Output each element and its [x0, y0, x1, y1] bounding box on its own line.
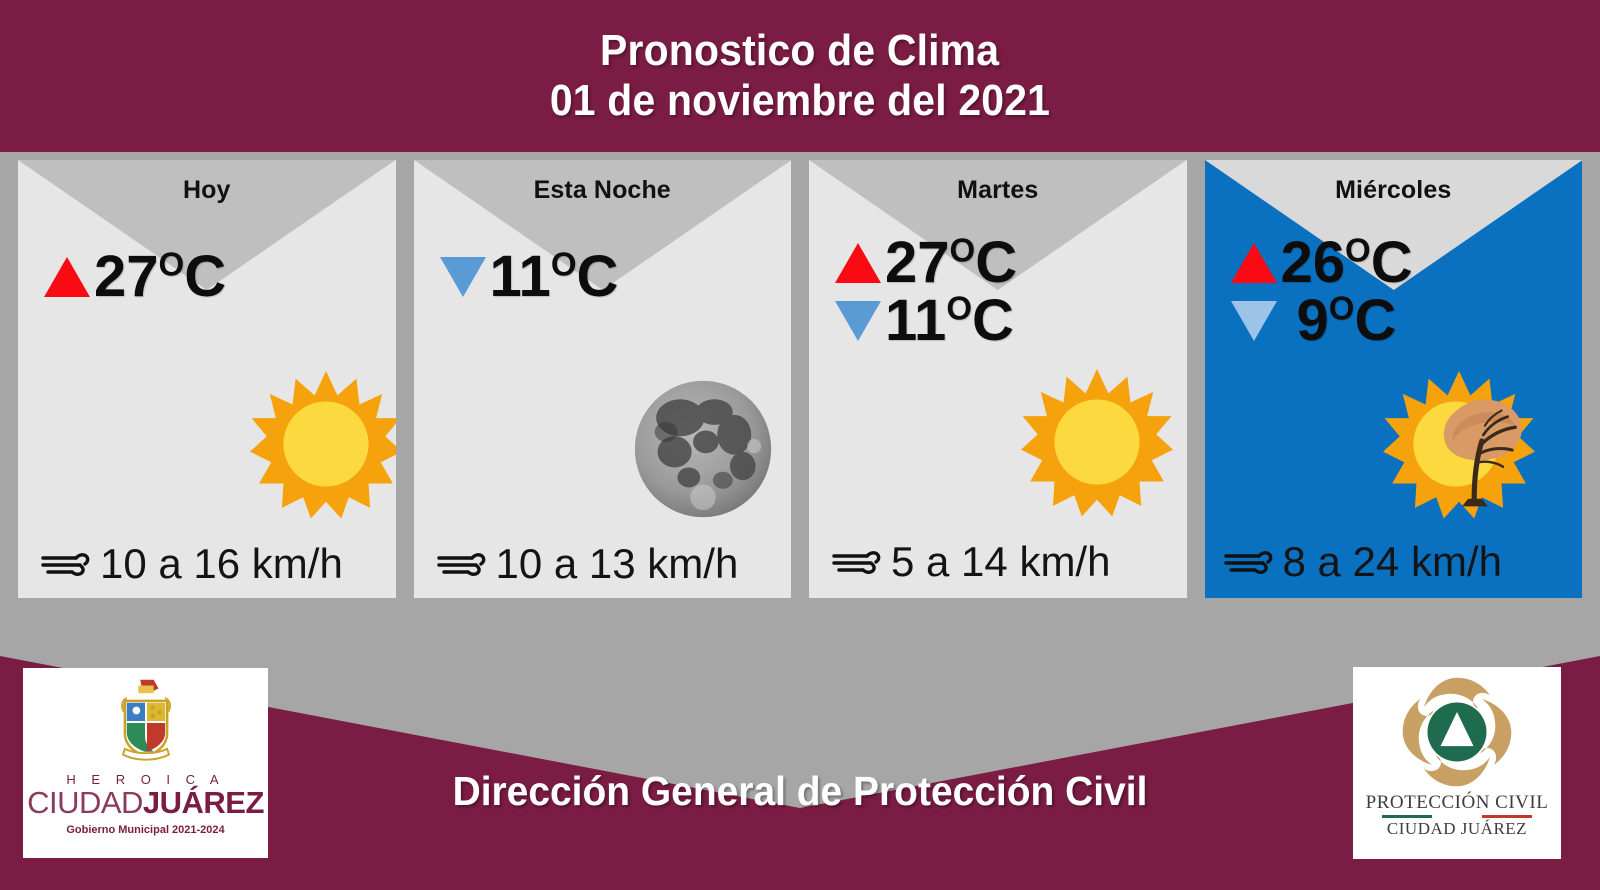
logo-pc-rule: [1382, 815, 1532, 818]
low-temp-value: 9OC: [1297, 292, 1397, 350]
ciudad-juarez-logo[interactable]: H E R O I C A CIUDADJUÁREZ Gobierno Muni…: [23, 668, 268, 858]
forecast-card-esta-noche[interactable]: Esta Noche 11OC: [414, 160, 792, 598]
low-temp-row: 11OC: [835, 292, 1187, 350]
forecast-cards: Hoy 27OC: [0, 152, 1600, 612]
temperature-block: 11OC: [414, 248, 792, 306]
footer-title: Dirección General de Protección Civil: [40, 768, 1560, 815]
temp-down-triangle-icon: [1231, 301, 1277, 341]
proteccion-civil-logo[interactable]: PROTECCIÓN CIVIL CIUDAD JUÁREZ: [1353, 667, 1561, 859]
wind-info: 8 a 24 km/h: [1205, 538, 1583, 586]
temp-up-triangle-icon: [44, 257, 90, 297]
wind-info: 10 a 16 km/h: [18, 540, 396, 588]
high-temp-row: 27OC: [835, 234, 1187, 292]
low-temp-row: 11OC: [440, 248, 792, 306]
wind-value: 10 a 16 km/h: [100, 540, 343, 588]
wind-info: 10 a 13 km/h: [414, 540, 792, 588]
header: Pronostico de Clima 01 de noviembre del …: [0, 0, 1600, 152]
temp-down-triangle-icon: [835, 301, 881, 341]
temp-up-triangle-icon: [835, 243, 881, 283]
day-label: Martes: [809, 176, 1187, 205]
sun-icon: [1021, 366, 1173, 523]
wind-info: 5 a 14 km/h: [809, 538, 1187, 586]
wind-value: 8 a 24 km/h: [1283, 538, 1502, 586]
sun-icon: [250, 368, 396, 525]
logo-pc-title: PROTECCIÓN CIVIL: [1366, 792, 1549, 814]
logo-government-text: Gobierno Municipal 2021-2024: [66, 824, 224, 836]
wind-icon: [831, 541, 887, 583]
wind-icon: [1223, 541, 1279, 583]
low-temp-value: 11OC: [490, 248, 619, 306]
high-temp-value: 27OC: [94, 248, 226, 306]
wind-value: 5 a 14 km/h: [891, 538, 1110, 586]
coat-of-arms-icon: [98, 674, 194, 770]
temperature-block: 26OC 9OC: [1205, 234, 1583, 350]
page-title-line2: 01 de noviembre del 2021: [550, 76, 1050, 126]
low-temp-row: 9OC: [1231, 292, 1583, 350]
page-title-line1: Pronostico de Clima: [600, 26, 999, 76]
forecast-card-miercoles[interactable]: Miércoles 26OC 9OC: [1205, 160, 1583, 598]
wind-icon: [436, 543, 492, 585]
high-temp-value: 26OC: [1281, 234, 1413, 292]
temperature-block: 27OC 11OC: [809, 234, 1187, 350]
wind-icon: [40, 543, 96, 585]
high-temp-row: 26OC: [1231, 234, 1583, 292]
forecast-card-martes[interactable]: Martes 27OC 11OC: [809, 160, 1187, 598]
temp-up-triangle-icon: [1231, 243, 1277, 283]
day-label: Hoy: [18, 176, 396, 205]
high-temp-row: 27OC: [44, 248, 396, 306]
high-temp-value: 27OC: [885, 234, 1017, 292]
temperature-block: 27OC: [18, 248, 396, 306]
civil-protection-emblem-icon: [1398, 673, 1516, 791]
moon-icon: [632, 378, 774, 525]
forecast-card-hoy[interactable]: Hoy 27OC: [18, 160, 396, 598]
low-temp-value: 11OC: [885, 292, 1014, 350]
logo-pc-subtitle: CIUDAD JUÁREZ: [1387, 819, 1527, 839]
wind-value: 10 a 13 km/h: [496, 540, 739, 588]
day-label: Esta Noche: [414, 176, 792, 205]
sun-windy-tree-icon: [1383, 368, 1535, 525]
day-label: Miércoles: [1205, 176, 1583, 205]
temp-down-triangle-icon: [440, 257, 486, 297]
